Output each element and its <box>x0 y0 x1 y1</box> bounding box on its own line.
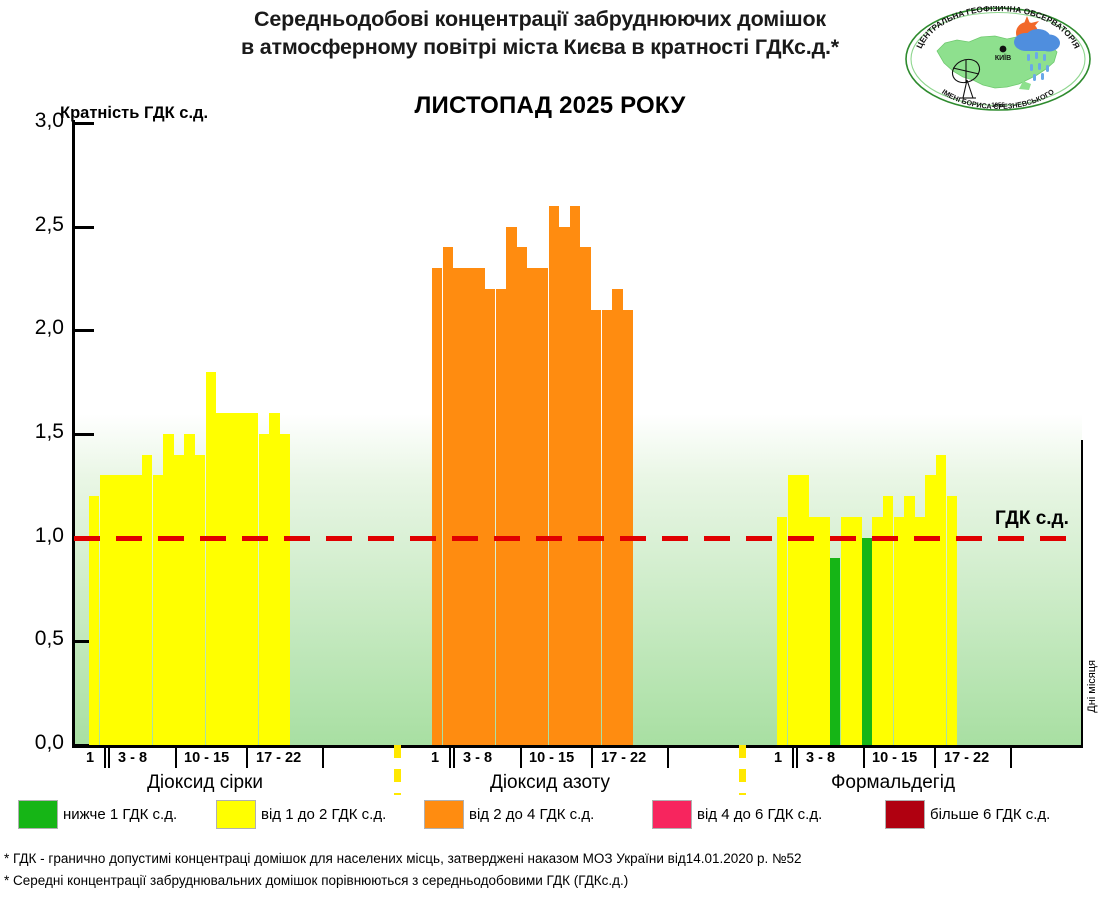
x-axis-group: 13 - 810 - 1517 - 22Діоксид азоту <box>405 750 695 796</box>
x-tick-divider <box>104 748 106 768</box>
x-tick-label: 1 <box>774 750 782 766</box>
right-axis-line <box>1081 440 1083 748</box>
x-tick-label: 3 - 8 <box>118 750 147 766</box>
y-tick-label: 0,5 <box>4 627 64 651</box>
legend-item: нижче 1 ГДК с.д. <box>18 797 177 831</box>
legend-label: від 4 до 6 ГДК с.д. <box>697 806 822 823</box>
group-separator-2 <box>739 745 746 795</box>
x-axis-line <box>72 745 1083 748</box>
y-tick-label: 2,5 <box>4 213 64 237</box>
pollutant-group-name: Діоксид азоту <box>405 772 695 794</box>
x-tick-divider <box>863 748 865 768</box>
x-tick-row: 13 - 810 - 1517 - 22 <box>60 750 350 770</box>
y-tick-label: 1,5 <box>4 420 64 444</box>
chart-page: Середньодобові концентрації забруднюючих… <box>0 0 1109 899</box>
y-tick-mark <box>72 226 94 229</box>
x-tick-label: 17 - 22 <box>944 750 989 766</box>
observatory-logo: КИЇВ <box>903 6 1093 112</box>
x-tick-divider <box>796 748 798 768</box>
x-tick-divider <box>453 748 455 768</box>
x-tick-row: 13 - 810 - 1517 - 22 <box>748 750 1038 770</box>
legend-color-swatch <box>652 800 692 829</box>
pollutant-group-name: Формальдегід <box>748 772 1038 794</box>
footnote-line: * ГДК - гранично допустимі концентраці д… <box>4 848 1104 870</box>
plot-area <box>72 123 1082 745</box>
x-tick-label: 3 - 8 <box>463 750 492 766</box>
x-tick-label: 10 - 15 <box>529 750 574 766</box>
legend-label: більше 6 ГДК с.д. <box>930 806 1050 823</box>
x-axis-group: 13 - 810 - 1517 - 22Формальдегід <box>748 750 1038 796</box>
legend-item: від 4 до 6 ГДК с.д. <box>652 797 822 831</box>
title-line-1: Середньодобові концентрації забруднюючих… <box>170 6 910 34</box>
x-tick-divider <box>246 748 248 768</box>
x-tick-label: 1 <box>431 750 439 766</box>
x-tick-label: 10 - 15 <box>184 750 229 766</box>
plot-background-gradient <box>72 123 1082 745</box>
svg-text:КИЇВ: КИЇВ <box>995 54 1011 62</box>
footnote-line: * Середні концентрації забруднювальних д… <box>4 870 1104 892</box>
x-tick-divider <box>108 748 110 768</box>
group-separator-1 <box>394 745 401 795</box>
y-tick-label: 1,0 <box>4 524 64 548</box>
y-tick-label: 2,0 <box>4 316 64 340</box>
x-tick-divider <box>322 748 324 768</box>
title-line-2: в атмосферному повітрі міста Києва в кра… <box>170 34 910 62</box>
y-axis-title: Кратність ГДК с.д. <box>60 104 208 123</box>
x-tick-divider <box>1010 748 1012 768</box>
x-tick-divider <box>934 748 936 768</box>
threshold-label: ГДК с.д. <box>995 508 1069 530</box>
x-tick-divider <box>591 748 593 768</box>
y-tick-mark <box>72 329 94 332</box>
legend-label: нижче 1 ГДК с.д. <box>63 806 177 823</box>
x-tick-label: 17 - 22 <box>601 750 646 766</box>
chart-subtitle: ЛИСТОПАД 2025 РОКУ <box>270 92 830 120</box>
x-tick-label: 3 - 8 <box>806 750 835 766</box>
svg-text:1855: 1855 <box>991 103 1005 109</box>
legend-label: від 2 до 4 ГДК с.д. <box>469 806 594 823</box>
legend-color-swatch <box>885 800 925 829</box>
legend-item: від 1 до 2 ГДК с.д. <box>216 797 386 831</box>
y-tick-mark <box>72 640 94 643</box>
x-axis-group: 13 - 810 - 1517 - 22Діоксид сірки <box>60 750 350 796</box>
legend-color-swatch <box>216 800 256 829</box>
x-tick-divider <box>520 748 522 768</box>
y-tick-mark <box>72 744 94 747</box>
legend-label: від 1 до 2 ГДК с.д. <box>261 806 386 823</box>
legend-color-swatch <box>424 800 464 829</box>
legend-item: більше 6 ГДК с.д. <box>885 797 1050 831</box>
y-tick-label: 3,0 <box>4 109 64 133</box>
x-tick-divider <box>175 748 177 768</box>
x-tick-divider <box>792 748 794 768</box>
x-tick-label: 1 <box>86 750 94 766</box>
footnotes: * ГДК - гранично допустимі концентраці д… <box>4 848 1104 893</box>
x-tick-label: 10 - 15 <box>872 750 917 766</box>
threshold-line <box>74 536 1082 541</box>
pollutant-group-name: Діоксид сірки <box>60 772 350 794</box>
legend: нижче 1 ГДК с.д.від 1 до 2 ГДК с.д.від 2… <box>10 797 1100 831</box>
x-tick-label: 17 - 22 <box>256 750 301 766</box>
x-axis-title: Дні місяця <box>1086 660 1098 713</box>
page-title: Середньодобові концентрації забруднюючих… <box>170 6 910 62</box>
x-tick-divider <box>449 748 451 768</box>
legend-color-swatch <box>18 800 58 829</box>
legend-item: від 2 до 4 ГДК с.д. <box>424 797 594 831</box>
y-tick-mark <box>72 122 94 125</box>
y-tick-mark <box>72 433 94 436</box>
x-tick-row: 13 - 810 - 1517 - 22 <box>405 750 695 770</box>
y-tick-label: 0,0 <box>4 731 64 755</box>
x-tick-divider <box>667 748 669 768</box>
